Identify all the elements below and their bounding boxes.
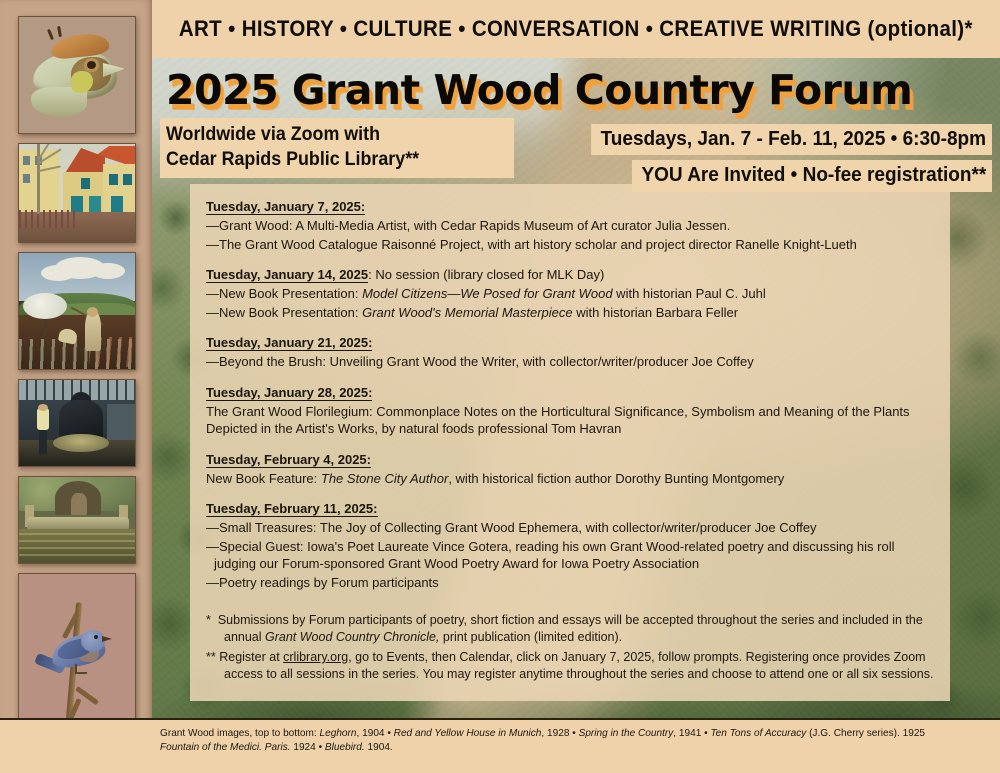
credit-work-year: (J.G. Cherry series). 1925 xyxy=(806,727,925,739)
page-title: 2025 Grant Wood Country Forum xyxy=(166,66,986,114)
poster-title-wrapper: 2025 Grant Wood Country Forum xyxy=(166,66,986,120)
leghorn-comb-spike-icon xyxy=(57,26,62,37)
credit-work-title: Fountain of the Medici. Paris. xyxy=(160,741,291,753)
artwork-thumbnail-spring-in-the-country xyxy=(18,252,136,370)
spring-blossoming-tree xyxy=(23,293,67,319)
session-heading: Tuesday, January 21, 2025: xyxy=(206,335,372,351)
bluebird-head xyxy=(81,630,105,652)
session-block: Tuesday, January 7, 2025: —Grant Wood: A… xyxy=(206,198,934,253)
footnote-marker: ** xyxy=(206,650,216,664)
credit-work-title: Bluebird. xyxy=(325,741,365,753)
session-block: Tuesday, January 14, 2025: No session (l… xyxy=(206,266,934,321)
footnote-single-star: * Submissions by Forum participants of p… xyxy=(206,612,934,646)
munich-window xyxy=(81,178,90,189)
spring-figure-head xyxy=(87,307,98,317)
factory-worker-torso xyxy=(37,408,49,430)
bluebird-eye xyxy=(94,635,98,639)
session-block: Tuesday, January 21, 2025: —Beyond the B… xyxy=(206,334,934,371)
subtitle-left-block: Worldwide via Zoom with Cedar Rapids Pub… xyxy=(160,118,514,178)
factory-material-pile xyxy=(53,434,109,452)
credit-work-year: 1924 • xyxy=(291,741,325,753)
munich-window xyxy=(23,174,30,183)
footnote-marker: * xyxy=(206,613,211,627)
credit-work-title: Leghorn xyxy=(319,727,356,739)
leghorn-comb-spike-icon xyxy=(47,29,54,40)
subtitle-right-block: Tuesdays, Jan. 7 - Feb. 11, 2025 • 6:30-… xyxy=(562,124,992,192)
leghorn-eye-shape xyxy=(87,61,96,69)
artwork-thumbnail-red-and-yellow-house-in-munich xyxy=(18,143,136,243)
session-heading-note: : No session (library closed for MLK Day… xyxy=(368,267,604,282)
poster-main-panel: ART • HISTORY • CULTURE • CONVERSATION •… xyxy=(152,0,1000,773)
munich-fence xyxy=(19,210,75,228)
session-line: —Small Treasures: The Joy of Collecting … xyxy=(206,519,934,537)
tagline-bar: ART • HISTORY • CULTURE • CONVERSATION •… xyxy=(152,0,1000,58)
session-block: Tuesday, February 11, 2025: —Small Treas… xyxy=(206,500,934,591)
artwork-thumbnail-fountain-of-the-medici xyxy=(18,476,136,564)
credit-work-title: Spring in the Country xyxy=(579,727,674,739)
session-line: —New Book Presentation: Grant Wood's Mem… xyxy=(206,304,934,322)
footnote-double-star: ** Register at crlibrary.org, go to Even… xyxy=(206,649,934,683)
credit-work-title: Ten Tons of Accuracy xyxy=(710,727,806,739)
fountain-water-ripples xyxy=(19,533,136,561)
spring-standing-figure xyxy=(85,311,101,351)
session-line: —New Book Presentation: Model Citizens—W… xyxy=(206,285,934,303)
session-line: —Beyond the Brush: Unveiling Grant Wood … xyxy=(206,353,934,371)
session-heading: Tuesday, January 14, 2025 xyxy=(206,267,368,283)
tagline-text: ART • HISTORY • CULTURE • CONVERSATION •… xyxy=(179,16,973,42)
credit-work-title: Red and Yellow House in Munich xyxy=(394,727,542,739)
schedule-dates-text: Tuesdays, Jan. 7 - Feb. 11, 2025 • 6:30-… xyxy=(591,124,992,155)
registration-link[interactable]: crlibrary.org xyxy=(283,650,348,664)
session-heading: Tuesday, January 28, 2025: xyxy=(206,385,372,401)
invitation-text: YOU Are Invited • No-fee registration** xyxy=(632,160,992,192)
spring-cloud xyxy=(55,257,105,279)
artwork-thumbnail-rail xyxy=(0,0,152,773)
credit-work-year: , 1941 • xyxy=(673,727,710,739)
credit-work-year: , 1928 • xyxy=(541,727,578,739)
session-heading: Tuesday, February 11, 2025: xyxy=(206,501,378,517)
session-block: Tuesday, February 4, 2025: New Book Feat… xyxy=(206,451,934,488)
factory-worker-legs xyxy=(39,428,47,454)
munich-window xyxy=(23,156,30,165)
session-heading: Tuesday, January 7, 2025: xyxy=(206,199,365,215)
subtitle-left-line1: Worldwide via Zoom with xyxy=(166,122,486,147)
session-line: The Grant Wood Florilegium: Commonplace … xyxy=(206,403,934,438)
credit-work-year: 1904. xyxy=(365,741,393,753)
session-line: —Poetry readings by Forum participants xyxy=(206,574,934,592)
footnotes-block: * Submissions by Forum participants of p… xyxy=(206,612,934,683)
artwork-thumbnail-ten-tons-of-accuracy xyxy=(18,379,136,467)
image-credit-text: Grant Wood images, top to bottom: Leghor… xyxy=(160,727,953,754)
munich-window xyxy=(109,174,118,185)
footnote-text: Register at xyxy=(219,650,283,664)
factory-worker-head xyxy=(38,404,48,411)
footnote-publication-title: Grant Wood Country Chronicle, xyxy=(265,630,439,644)
session-line: —Special Guest: Iowa's Poet Laureate Vin… xyxy=(206,538,934,573)
poster-root: ART • HISTORY • CULTURE • CONVERSATION •… xyxy=(0,0,1000,773)
session-line: —Grant Wood: A Multi-Media Artist, with … xyxy=(206,217,934,235)
image-credit-footer: Grant Wood images, top to bottom: Leghor… xyxy=(0,718,1000,773)
fountain-statue xyxy=(71,493,87,515)
artwork-thumbnail-leghorn xyxy=(18,16,136,134)
credit-intro: Grant Wood images, top to bottom: xyxy=(160,727,319,739)
session-schedule-card: Tuesday, January 7, 2025: —Grant Wood: A… xyxy=(190,184,950,701)
munich-window xyxy=(123,174,132,185)
session-heading: Tuesday, February 4, 2025: xyxy=(206,452,371,468)
bluebird-foot xyxy=(75,664,87,674)
credit-work-year: , 1904 • xyxy=(357,727,394,739)
session-block: Tuesday, January 28, 2025: The Grant Woo… xyxy=(206,384,934,438)
factory-machine-right xyxy=(107,404,135,440)
session-line: —The Grant Wood Catalogue Raisonné Proje… xyxy=(206,236,934,254)
footnote-text-tail: print publication (limited edition). xyxy=(439,630,622,644)
session-line: New Book Feature: The Stone City Author,… xyxy=(206,470,934,488)
subtitle-left-line2: Cedar Rapids Public Library** xyxy=(166,147,486,172)
